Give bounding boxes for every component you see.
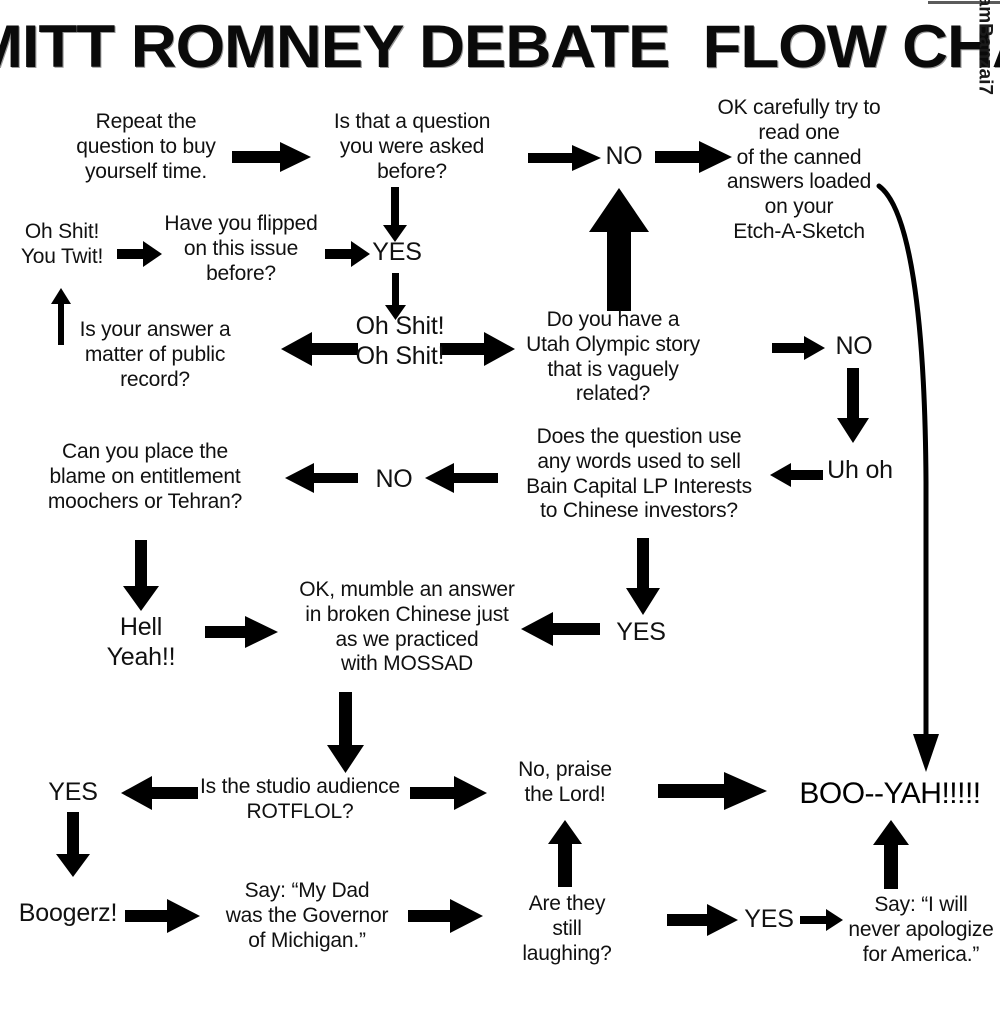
- arrow-no-to-uhoh: [836, 368, 870, 444]
- node-mumble-chinese: OK, mumble an answer in broken Chinese j…: [290, 578, 524, 677]
- node-yes-bain: YES: [611, 618, 671, 648]
- arrow-mumble-to-studioaudience: [325, 692, 365, 774]
- node-oh-shit-oh-shit: Oh Shit! Oh Shit!: [345, 312, 455, 371]
- arrow-yes-to-neverapologize: [800, 908, 844, 932]
- page-title: MITT ROMNEY DEBATE FLOW CHART: [0, 12, 1000, 81]
- arrow-isthat-to-yes: [382, 187, 408, 243]
- arrow-neverapologize-to-booyah: [872, 820, 910, 890]
- node-yes-rotflol: YES: [44, 778, 102, 808]
- arrow-praiselord-to-booyah: [658, 770, 768, 812]
- arrow-laughing-to-yes-bottom: [667, 902, 739, 938]
- node-oh-shit-you-twit: Oh Shit! You Twit!: [8, 220, 116, 270]
- node-bain-capital: Does the question use any words used to …: [505, 425, 773, 524]
- node-boogerz: Boogerz!: [12, 899, 124, 929]
- arrow-hellyeah-to-mumble: [205, 614, 279, 650]
- node-no-utah: NO: [826, 332, 882, 362]
- node-boo-yah: BOO--YAH!!!!!: [790, 777, 990, 811]
- node-blame-entitlement: Can you place the blame on entitlement m…: [22, 440, 268, 514]
- node-are-they-laughing: Are they still laughing?: [512, 892, 622, 966]
- node-hell-yeah: Hell Yeah!!: [97, 613, 185, 672]
- arrow-yes-to-boogerz: [55, 812, 91, 878]
- node-never-apologize: Say: “I will never apologize for America…: [845, 893, 997, 967]
- arrow-no-to-blameentitlement: [284, 462, 358, 494]
- arrow-yes-to-mumble: [520, 610, 600, 648]
- arrow-utaholympic-to-no-top: [588, 188, 650, 312]
- arrow-haveyouflipped-to-yes: [325, 240, 371, 268]
- node-utah-olympic-story: Do you have a Utah Olympic story that is…: [518, 308, 708, 407]
- node-my-dad-governor: Say: “My Dad was the Governor of Michiga…: [212, 879, 402, 953]
- arrow-blameentitlement-to-hellyeah: [122, 540, 160, 612]
- node-yes-laughing: YES: [740, 905, 798, 935]
- node-no-bain: NO: [366, 465, 422, 495]
- node-is-that-a-question: Is that a question you were asked before…: [312, 110, 512, 184]
- arrow-uhoh-to-baincapital: [769, 462, 823, 488]
- watermark-credit: @WilliamBanzai7: [974, 0, 996, 95]
- node-public-record: Is your answer a matter of public record…: [68, 318, 242, 392]
- node-studio-audience: Is the studio audience ROTFLOL?: [190, 775, 410, 825]
- arrow-baincapital-to-yes: [625, 538, 661, 616]
- arrow-laughing-to-praiselord: [547, 820, 583, 888]
- node-no-praise-the-lord: No, praise the Lord!: [500, 758, 630, 808]
- arrow-baincapital-to-no-left: [424, 462, 498, 494]
- node-have-you-flipped: Have you flipped on this issue before?: [155, 212, 327, 286]
- arrow-mydad-to-aretheystilllaughing: [408, 897, 484, 935]
- arrow-studioaudience-to-yes-left: [120, 774, 198, 812]
- arrow-boogerz-to-mydad: [125, 897, 201, 935]
- node-uh-oh: Uh oh: [818, 456, 902, 486]
- node-repeat-question: Repeat the question to buy yourself time…: [56, 110, 236, 184]
- arrow-studioaudience-to-praiselord: [410, 774, 488, 812]
- node-no-top: NO: [594, 142, 654, 172]
- flowchart-canvas: MITT ROMNEY DEBATE FLOW CHART @WilliamBa…: [0, 0, 1000, 1009]
- arrow-isthat-to-no-top: [528, 143, 602, 173]
- arrow-utaholympic-to-no-right: [772, 335, 826, 361]
- node-etch-a-sketch: OK carefully try to read one of the cann…: [708, 96, 890, 245]
- arrow-repeat-to-isthat: [232, 140, 312, 174]
- node-yes-flipped: YES: [368, 238, 426, 268]
